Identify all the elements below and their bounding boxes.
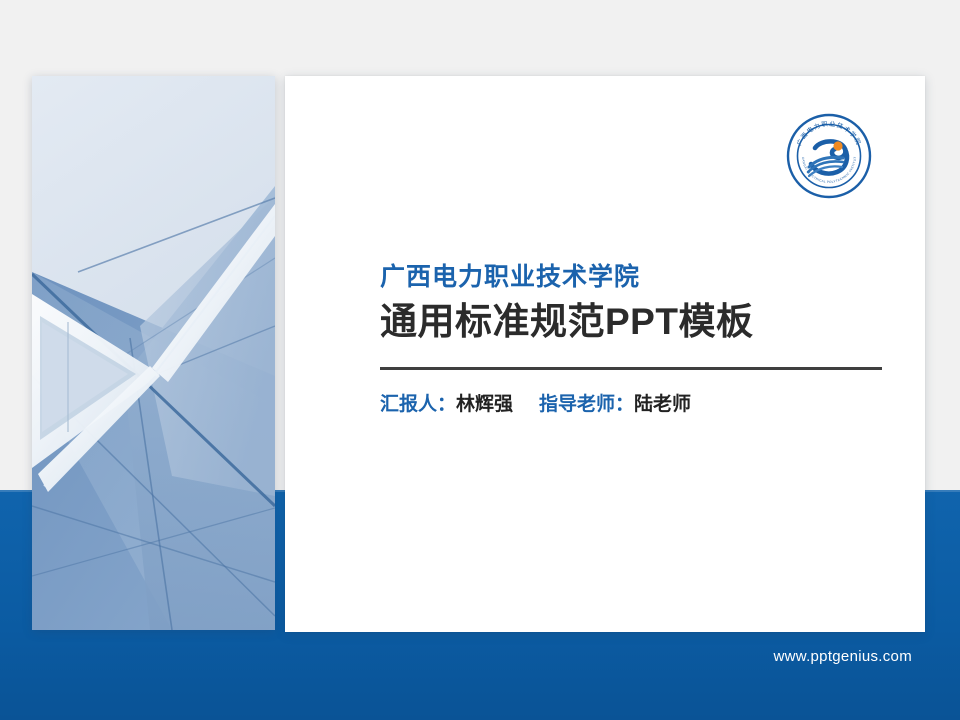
page-title: 通用标准规范PPT模板	[380, 299, 883, 344]
logo-orange-dot	[833, 141, 842, 150]
presenter-name: 林辉强	[456, 394, 513, 415]
presentation-slide: 广西电力职业技术学院 GUANGXI ELECTRICAL POLYTECHNI…	[0, 0, 960, 720]
advisor-name: 陆老师	[634, 394, 691, 415]
school-name: 广西电力职业技术学院	[380, 262, 883, 293]
advisor-label: 指导老师：	[539, 394, 634, 415]
footer-url: www.pptgenius.com	[0, 648, 912, 665]
university-logo: 广西电力职业技术学院 GUANGXI ELECTRICAL POLYTECHNI…	[785, 112, 873, 200]
presenter-label: 汇报人：	[380, 394, 456, 415]
title-text-block: 广西电力职业技术学院 通用标准规范PPT模板 汇报人：林辉强指导老师：陆老师	[380, 262, 883, 418]
presenter-line: 汇报人：林辉强指导老师：陆老师	[380, 393, 883, 418]
title-divider	[380, 367, 882, 370]
architecture-photo-panel	[32, 76, 275, 630]
